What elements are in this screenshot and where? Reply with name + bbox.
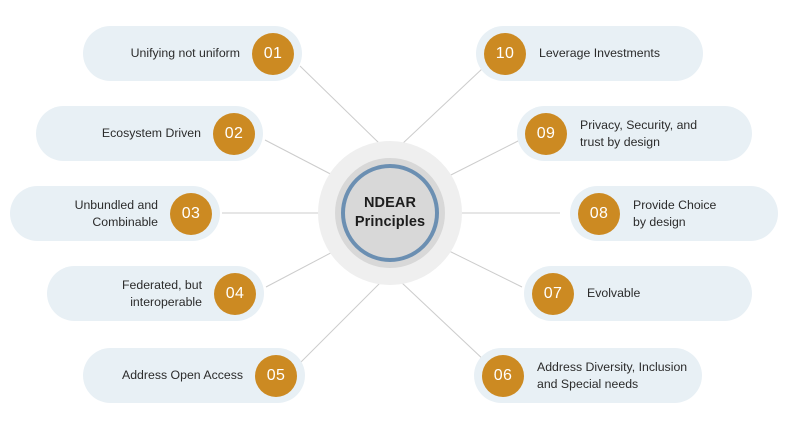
principle-label-10: Leverage Investments <box>526 45 660 62</box>
principle-badge-08: 08 <box>578 193 620 235</box>
principle-node-07[interactable]: 07Evolvable <box>524 266 752 321</box>
principle-label-04: Federated, but interoperable <box>122 277 214 311</box>
principle-node-05[interactable]: Address Open Access05 <box>83 348 305 403</box>
hub-label-line2: Principles <box>355 214 425 230</box>
connector-06 <box>401 282 486 362</box>
principle-node-02[interactable]: Ecosystem Driven02 <box>36 106 263 161</box>
principle-label-03: Unbundled and Combinable <box>75 197 170 231</box>
principle-node-04[interactable]: Federated, but interoperable04 <box>47 266 264 321</box>
connector-07 <box>441 247 522 287</box>
principle-badge-04: 04 <box>214 273 256 315</box>
connector-09 <box>441 140 520 180</box>
principle-node-08[interactable]: 08Provide Choice by design <box>570 186 778 241</box>
principle-node-06[interactable]: 06Address Diversity, Inclusion and Speci… <box>474 348 702 403</box>
hub-center: NDEAR Principles <box>341 164 439 262</box>
principle-badge-10: 10 <box>484 33 526 75</box>
connector-05 <box>301 282 381 362</box>
principle-label-01: Unifying not uniform <box>131 45 252 62</box>
hub-label-line1: NDEAR <box>364 195 416 211</box>
principle-label-07: Evolvable <box>574 285 640 302</box>
principle-node-01[interactable]: Unifying not uniform01 <box>83 26 302 81</box>
connector-10 <box>401 68 483 145</box>
connector-01 <box>300 66 381 145</box>
principle-badge-09: 09 <box>525 113 567 155</box>
principle-label-09: Privacy, Security, and trust by design <box>567 117 697 151</box>
principle-badge-03: 03 <box>170 193 212 235</box>
principle-badge-06: 06 <box>482 355 524 397</box>
principle-node-10[interactable]: 10Leverage Investments <box>476 26 703 81</box>
principle-badge-01: 01 <box>252 33 294 75</box>
principle-badge-05: 05 <box>255 355 297 397</box>
principle-node-03[interactable]: Unbundled and Combinable03 <box>10 186 220 241</box>
principle-label-02: Ecosystem Driven <box>102 125 213 142</box>
principle-badge-02: 02 <box>213 113 255 155</box>
principle-node-09[interactable]: 09Privacy, Security, and trust by design <box>517 106 752 161</box>
ndear-principles-diagram: NDEAR Principles Unifying not uniform01E… <box>0 0 786 429</box>
hub-label: NDEAR Principles <box>355 194 425 231</box>
principle-label-05: Address Open Access <box>122 367 255 384</box>
principle-label-06: Address Diversity, Inclusion and Special… <box>524 359 687 393</box>
principle-badge-07: 07 <box>532 273 574 315</box>
principle-label-08: Provide Choice by design <box>620 197 716 231</box>
